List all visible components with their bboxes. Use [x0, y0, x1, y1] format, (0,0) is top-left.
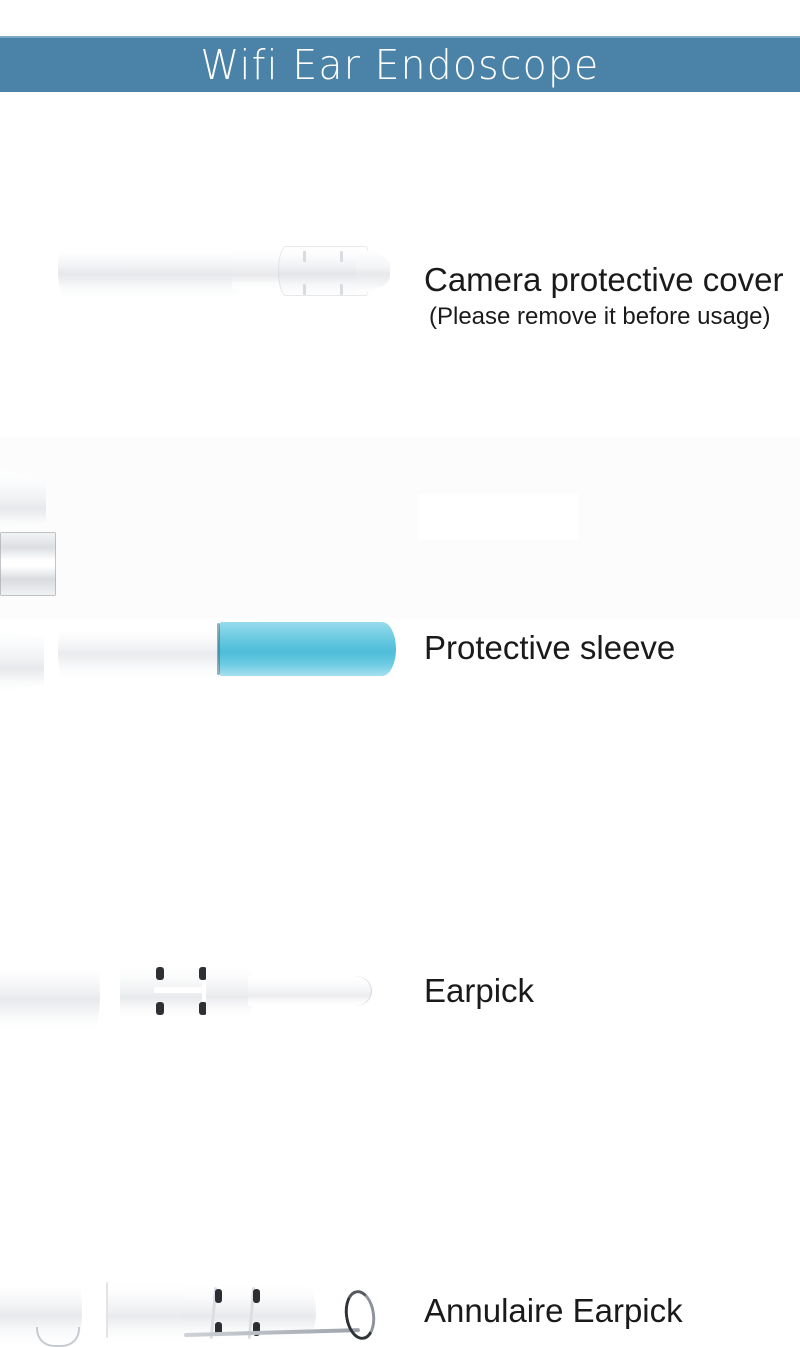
annulaire-cone	[0, 630, 44, 692]
annulaire-loop-icon	[342, 1288, 379, 1342]
header-banner: Wifi Ear Endoscope	[0, 36, 800, 92]
page-title: Wifi Ear Endoscope	[200, 45, 599, 86]
earpick-cone	[0, 470, 46, 532]
annulaire-body	[108, 1280, 186, 1342]
cover-slot-mark	[340, 251, 343, 262]
earpick-base	[0, 957, 100, 1031]
annulaire-mark	[215, 1289, 222, 1303]
earpick-collar-dot	[156, 967, 164, 980]
product-label-camera-protective-cover: Camera protective cover	[424, 262, 783, 299]
product-label-annulaire-earpick: Annulaire Earpick	[424, 1293, 683, 1330]
earpick-collar-gap	[154, 987, 210, 993]
product-row-earpick: Earpick	[0, 470, 800, 580]
earpick-neck	[206, 967, 254, 1017]
cover-slot-mark	[303, 251, 306, 262]
product-row-protective-sleeve: Protective sleeve	[0, 300, 800, 400]
annulaire-mark	[253, 1289, 260, 1303]
product-row-camera-protective-cover: Camera protective cover (Please remove i…	[0, 110, 800, 230]
product-row-annulaire-earpick: Annulaire Earpick	[0, 630, 800, 740]
annulaire-earpick-illustration	[0, 630, 44, 692]
cover-slot-mark	[340, 284, 343, 295]
cover-tip	[356, 250, 390, 292]
earpick-collar-dot	[156, 1002, 164, 1015]
earpick-illustration	[0, 470, 56, 596]
cover-slot-mark	[303, 284, 306, 295]
earpick-probe	[248, 976, 372, 1006]
cover-shaft	[58, 243, 248, 297]
earpick-metal-collar	[0, 532, 56, 596]
product-label-earpick: Earpick	[424, 973, 534, 1010]
